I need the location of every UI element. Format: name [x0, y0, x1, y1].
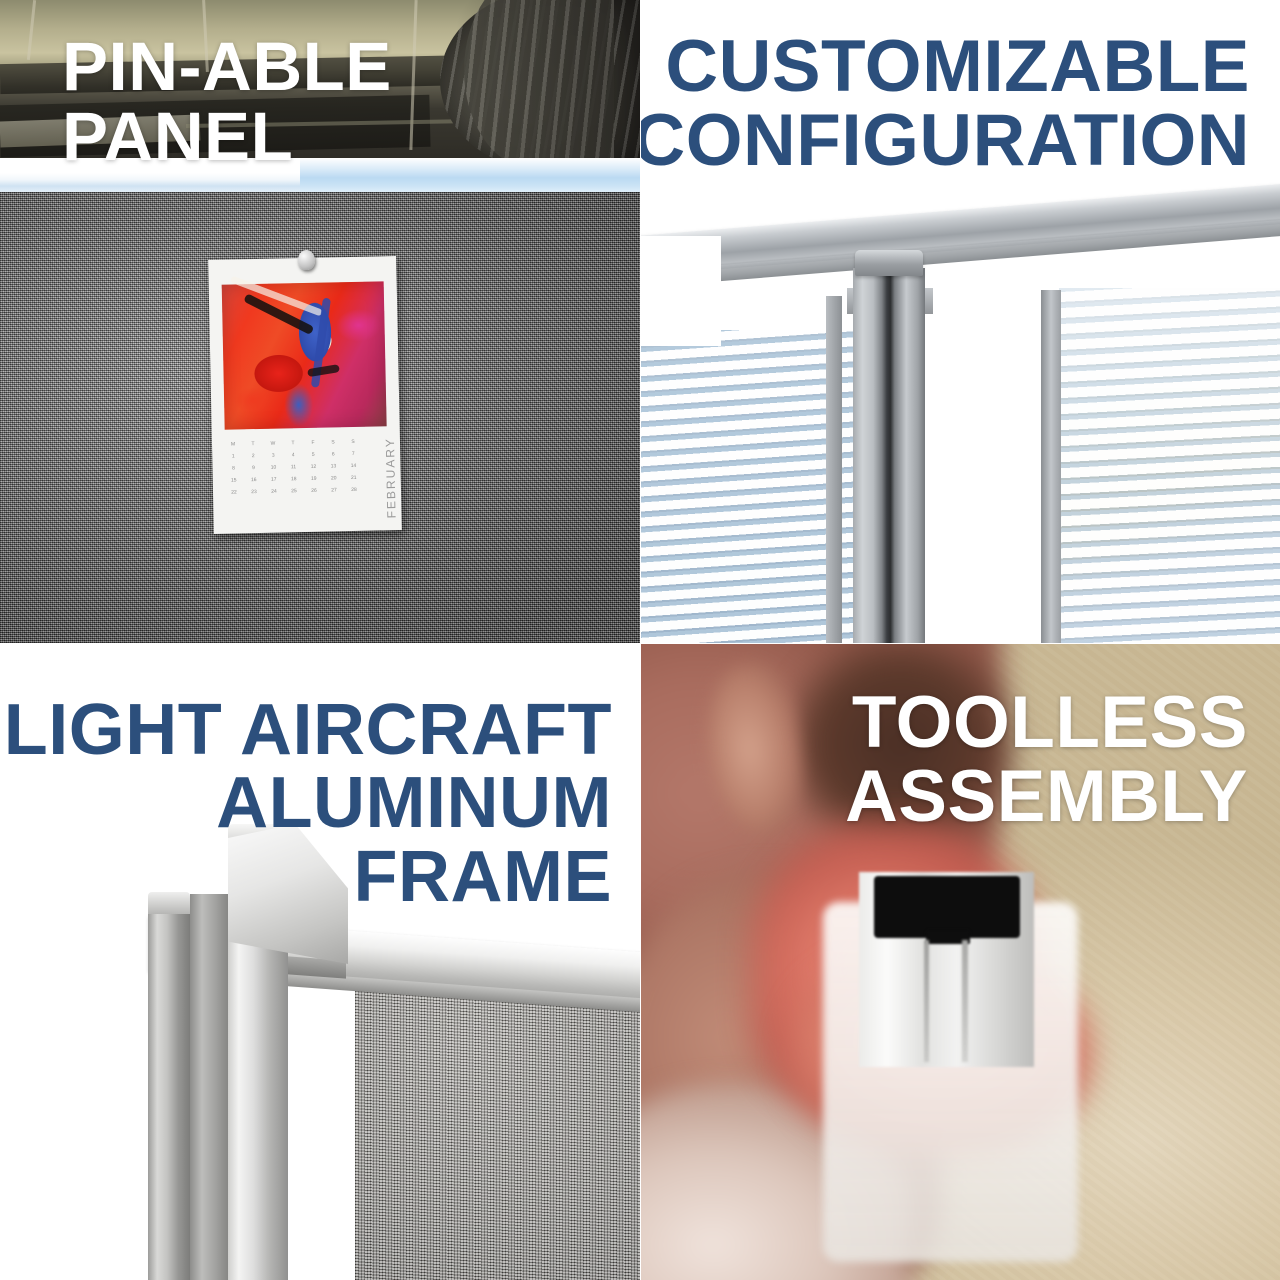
feature-collage: M T W T F S S 1 2 3 4 5 6 7 — [0, 0, 1280, 1280]
calendar-day: 2 — [245, 453, 261, 459]
calendar-week-row: 8 9 10 11 12 13 14 — [225, 462, 387, 471]
extrusion-cavity — [874, 876, 1020, 938]
calendar-day: 22 — [226, 489, 242, 495]
aluminum-post-rear — [148, 906, 190, 1280]
panel-light-aircraft-aluminum-frame: LIGHT AIRCRAFT ALUMINUM FRAME — [0, 644, 640, 1280]
calendar-weekday: S — [345, 439, 361, 445]
calendar-day: 16 — [246, 477, 262, 483]
panel-toolless-assembly: TOOLLESS ASSEMBLY — [641, 644, 1280, 1280]
calendar-week-row: 15 16 17 18 19 20 21 — [226, 474, 388, 483]
calendar-month-label: FEBRUARY — [383, 437, 399, 518]
heading-light-aircraft-aluminum-frame: LIGHT AIRCRAFT ALUMINUM FRAME — [4, 694, 612, 914]
calendar-day: 1 — [225, 453, 241, 459]
calendar-weekday: S — [325, 439, 341, 445]
calendar-day: 5 — [305, 452, 321, 458]
calendar-weekday: W — [265, 441, 281, 447]
calendar-day: 17 — [266, 477, 282, 483]
panel-pin-able-panel: M T W T F S S 1 2 3 4 5 6 7 — [0, 0, 640, 643]
calendar-day: 4 — [285, 452, 301, 458]
calendar-day: 25 — [286, 488, 302, 494]
calendar-weekday: T — [245, 441, 261, 447]
ceiling-pipe — [27, 0, 36, 60]
extrusion-groove — [962, 940, 968, 1062]
calendar-day: 9 — [245, 465, 261, 471]
calendar-day: 19 — [306, 476, 322, 482]
calendar-week-row: 22 23 24 25 26 27 28 — [226, 486, 388, 495]
calendar-day: 13 — [325, 463, 341, 469]
calendar-weekday: T — [285, 440, 301, 446]
calendar-weekday: F — [305, 440, 321, 446]
calendar-day: 23 — [246, 489, 262, 495]
calendar-day: 11 — [285, 464, 301, 470]
aluminum-post-middle — [190, 894, 230, 1280]
frame-post-cap — [855, 250, 923, 276]
calendar-day: 12 — [305, 464, 321, 470]
artwork-stroke — [307, 364, 340, 377]
calendar-day: 20 — [326, 475, 342, 481]
frame-vertical-right — [1041, 290, 1061, 643]
calendar-day: 3 — [265, 453, 281, 459]
wall-backdrop — [641, 236, 721, 346]
extrusion-groove — [924, 940, 929, 1062]
calendar-day: 27 — [326, 487, 342, 493]
frame-vertical-left — [826, 296, 842, 643]
heading-customizable-configuration: CUSTOMIZABLE CONFIGURATION — [641, 30, 1250, 179]
calendar-day: 24 — [266, 489, 282, 495]
push-pin-icon — [298, 250, 316, 271]
calendar-grid: M T W T F S S 1 2 3 4 5 6 7 — [225, 438, 389, 521]
calendar-day: 7 — [345, 451, 361, 457]
frame-corner-post — [853, 268, 925, 643]
calendar-day: 14 — [345, 463, 361, 469]
heading-toolless-assembly: TOOLLESS ASSEMBLY — [845, 686, 1248, 835]
calendar-day: 15 — [226, 477, 242, 483]
calendar-day: 8 — [225, 465, 241, 471]
calendar-day: 18 — [286, 476, 302, 482]
calendar-day: 6 — [325, 451, 341, 457]
calendar-day: 26 — [306, 488, 322, 494]
calendar-day: 28 — [346, 487, 362, 493]
pinned-calendar: M T W T F S S 1 2 3 4 5 6 7 — [208, 256, 402, 534]
calendar-week-row: 1 2 3 4 5 6 7 — [225, 450, 387, 459]
heading-pin-able-panel: PIN-ABLE PANEL — [62, 32, 640, 173]
calendar-weekday: M — [225, 441, 241, 447]
calendar-day: 21 — [346, 475, 362, 481]
panel-customizable-configuration: CUSTOMIZABLE CONFIGURATION — [641, 0, 1280, 643]
glass-glare — [1059, 288, 1280, 488]
calendar-day: 10 — [265, 465, 281, 471]
calendar-header-row: M T W T F S S — [225, 438, 387, 447]
calendar-artwork — [222, 281, 387, 429]
